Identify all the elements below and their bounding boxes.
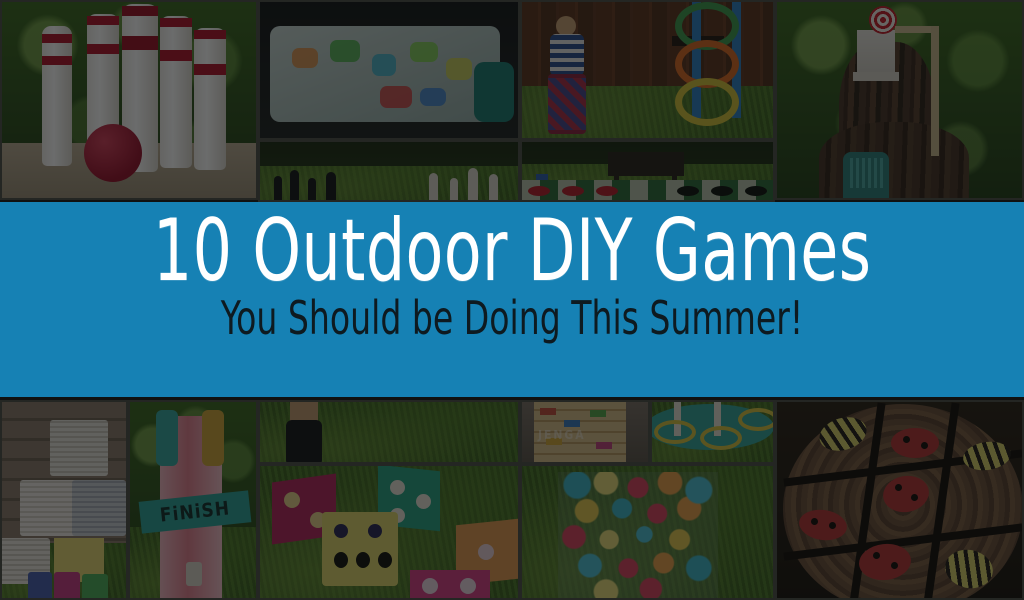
poster-root: FiNiSH (0, 0, 1024, 600)
collage-tile-giant-chess (258, 140, 520, 202)
poster-subtitle: You Should be Doing This Summer! (221, 294, 803, 342)
finish-sign-text: FiNiSH (159, 497, 231, 526)
collage-tile-giant-jenga: JENGA (520, 400, 650, 464)
collage-tile-giant-checkers (520, 140, 775, 202)
collage-tile-ring-toss-kid (520, 0, 775, 140)
collage-tile-giant-dice (258, 464, 520, 600)
collage-tile-tree-target (775, 0, 1024, 200)
collage-tile-ice-block-treasure (258, 0, 520, 140)
collage-tile-bowling-bottles (0, 0, 258, 200)
jenga-logo-text: JENGA (538, 428, 586, 442)
collage-tile-ring-toss-board (650, 400, 775, 464)
poster-title: 10 Outdoor DIY Games (153, 202, 872, 296)
title-band: 10 Outdoor DIY Games You Should be Doing… (0, 202, 1024, 397)
collage-tile-sack-race-legs (258, 400, 520, 464)
collage-tile-tin-can-stack (0, 400, 128, 600)
collage-tile-rock-tic-tac-toe (775, 400, 1024, 600)
collage-tile-balloon-wall (520, 464, 775, 600)
collage-tile-finish-banner: FiNiSH (128, 400, 258, 600)
